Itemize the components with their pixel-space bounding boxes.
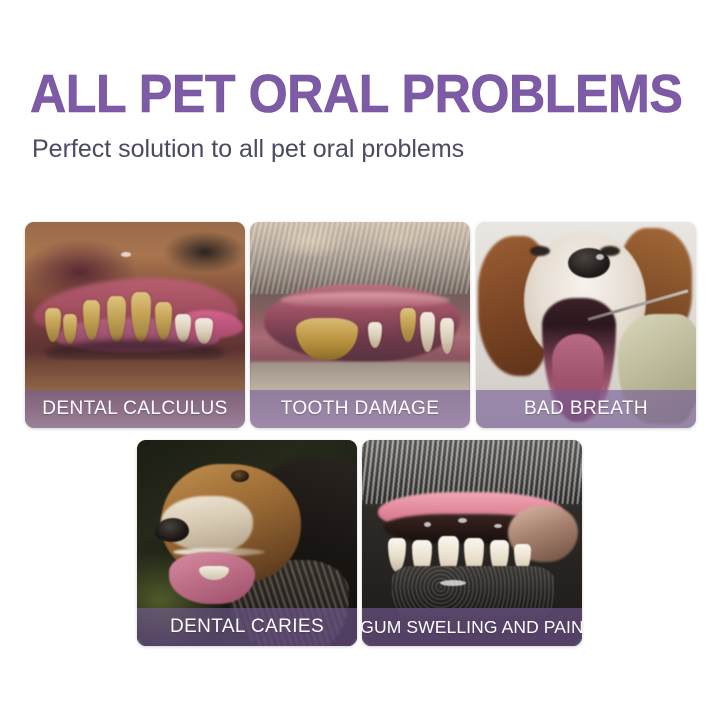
card-caption: DENTAL CARIES	[170, 617, 324, 637]
problem-card-gum-swelling[interactable]: GUM SWELLING AND PAIN	[362, 440, 582, 646]
tooth	[440, 318, 454, 354]
eye-shape	[530, 246, 550, 256]
problem-card-bad-breath[interactable]: BAD BREATH	[476, 222, 696, 428]
page-subtitle: Perfect solution to all pet oral problem…	[32, 133, 464, 165]
highlight	[424, 522, 431, 527]
card-caption: BAD BREATH	[524, 399, 648, 419]
caption-bar: DENTAL CARIES	[137, 608, 357, 646]
problem-card-tooth-damage[interactable]: TOOTH DAMAGE	[250, 222, 470, 428]
highlight	[458, 518, 467, 523]
highlight	[440, 580, 466, 586]
nose-shape	[568, 248, 610, 278]
highlight	[121, 252, 131, 257]
caption-bar: TOOTH DAMAGE	[250, 390, 470, 428]
highlight	[494, 524, 502, 528]
problem-card-dental-caries[interactable]: DENTAL CARIES	[137, 440, 357, 646]
highlight	[596, 254, 604, 260]
caption-bar: GUM SWELLING AND PAIN	[362, 608, 582, 646]
eye-shape	[231, 470, 249, 482]
promo-banner: ALL PET ORAL PROBLEMS Perfect solution t…	[0, 0, 720, 720]
page-title: ALL PET ORAL PROBLEMS	[30, 66, 682, 122]
caption-bar: DENTAL CALCULUS	[25, 390, 245, 428]
card-caption: GUM SWELLING AND PAIN	[362, 617, 582, 637]
card-caption: DENTAL CALCULUS	[42, 399, 228, 419]
card-caption: TOOTH DAMAGE	[281, 399, 440, 419]
nose-shape	[155, 518, 189, 542]
gum-shape	[280, 292, 450, 308]
problem-card-dental-calculus[interactable]: DENTAL CALCULUS	[25, 222, 245, 428]
caption-bar: BAD BREATH	[476, 390, 696, 428]
